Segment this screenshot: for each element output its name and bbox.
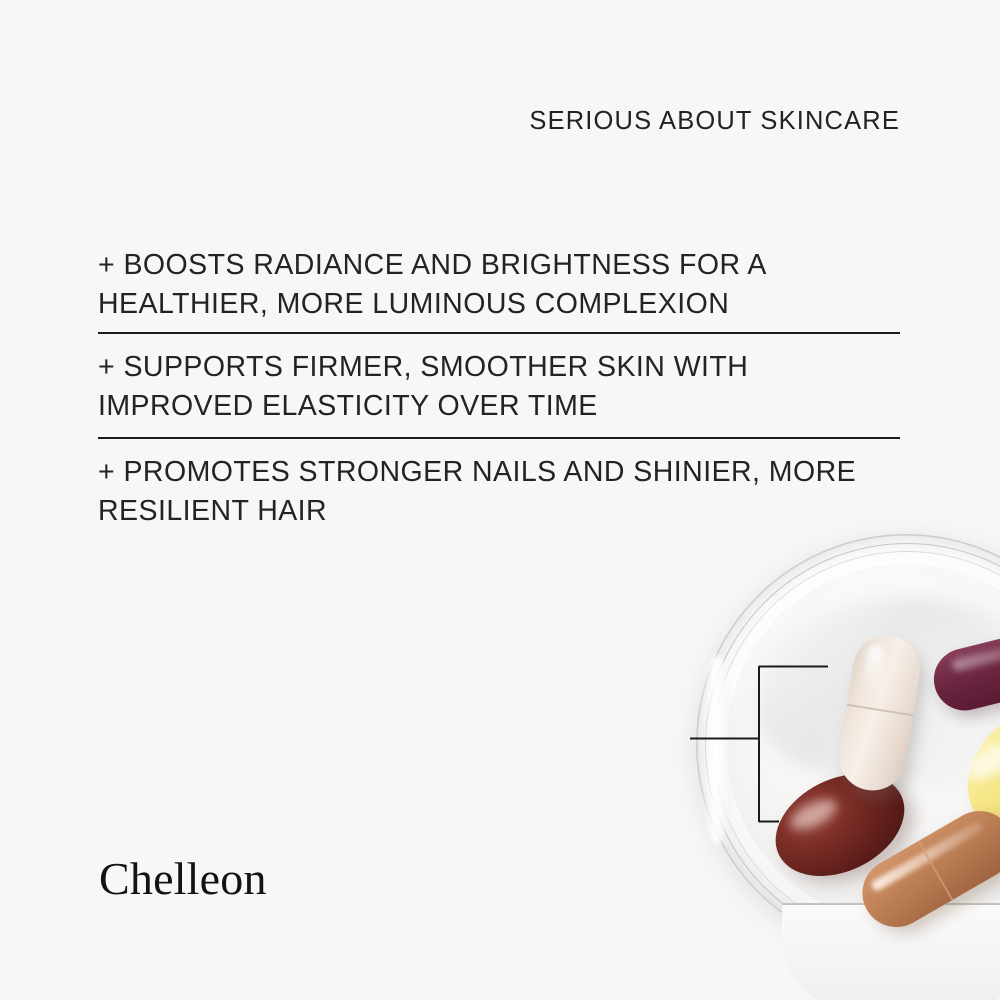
brand-wordmark: Chelleon <box>99 856 267 902</box>
product-photo <box>660 505 1000 1000</box>
benefit-text: + SUPPORTS FIRMER, SMOOTHER SKIN WITH IM… <box>98 334 900 437</box>
dish-glass-highlight <box>700 655 734 845</box>
kicker-headline: SERIOUS ABOUT SKINCARE <box>0 107 900 136</box>
benefit-item: + BOOSTS RADIANCE AND BRIGHTNESS FOR A H… <box>98 240 900 332</box>
advertisement-canvas: SERIOUS ABOUT SKINCARE + BOOSTS RADIANCE… <box>0 0 1000 1000</box>
benefit-item: + SUPPORTS FIRMER, SMOOTHER SKIN WITH IM… <box>98 334 900 437</box>
benefit-text: + BOOSTS RADIANCE AND BRIGHTNESS FOR A H… <box>98 240 900 332</box>
benefit-list: + BOOSTS RADIANCE AND BRIGHTNESS FOR A H… <box>98 240 900 531</box>
